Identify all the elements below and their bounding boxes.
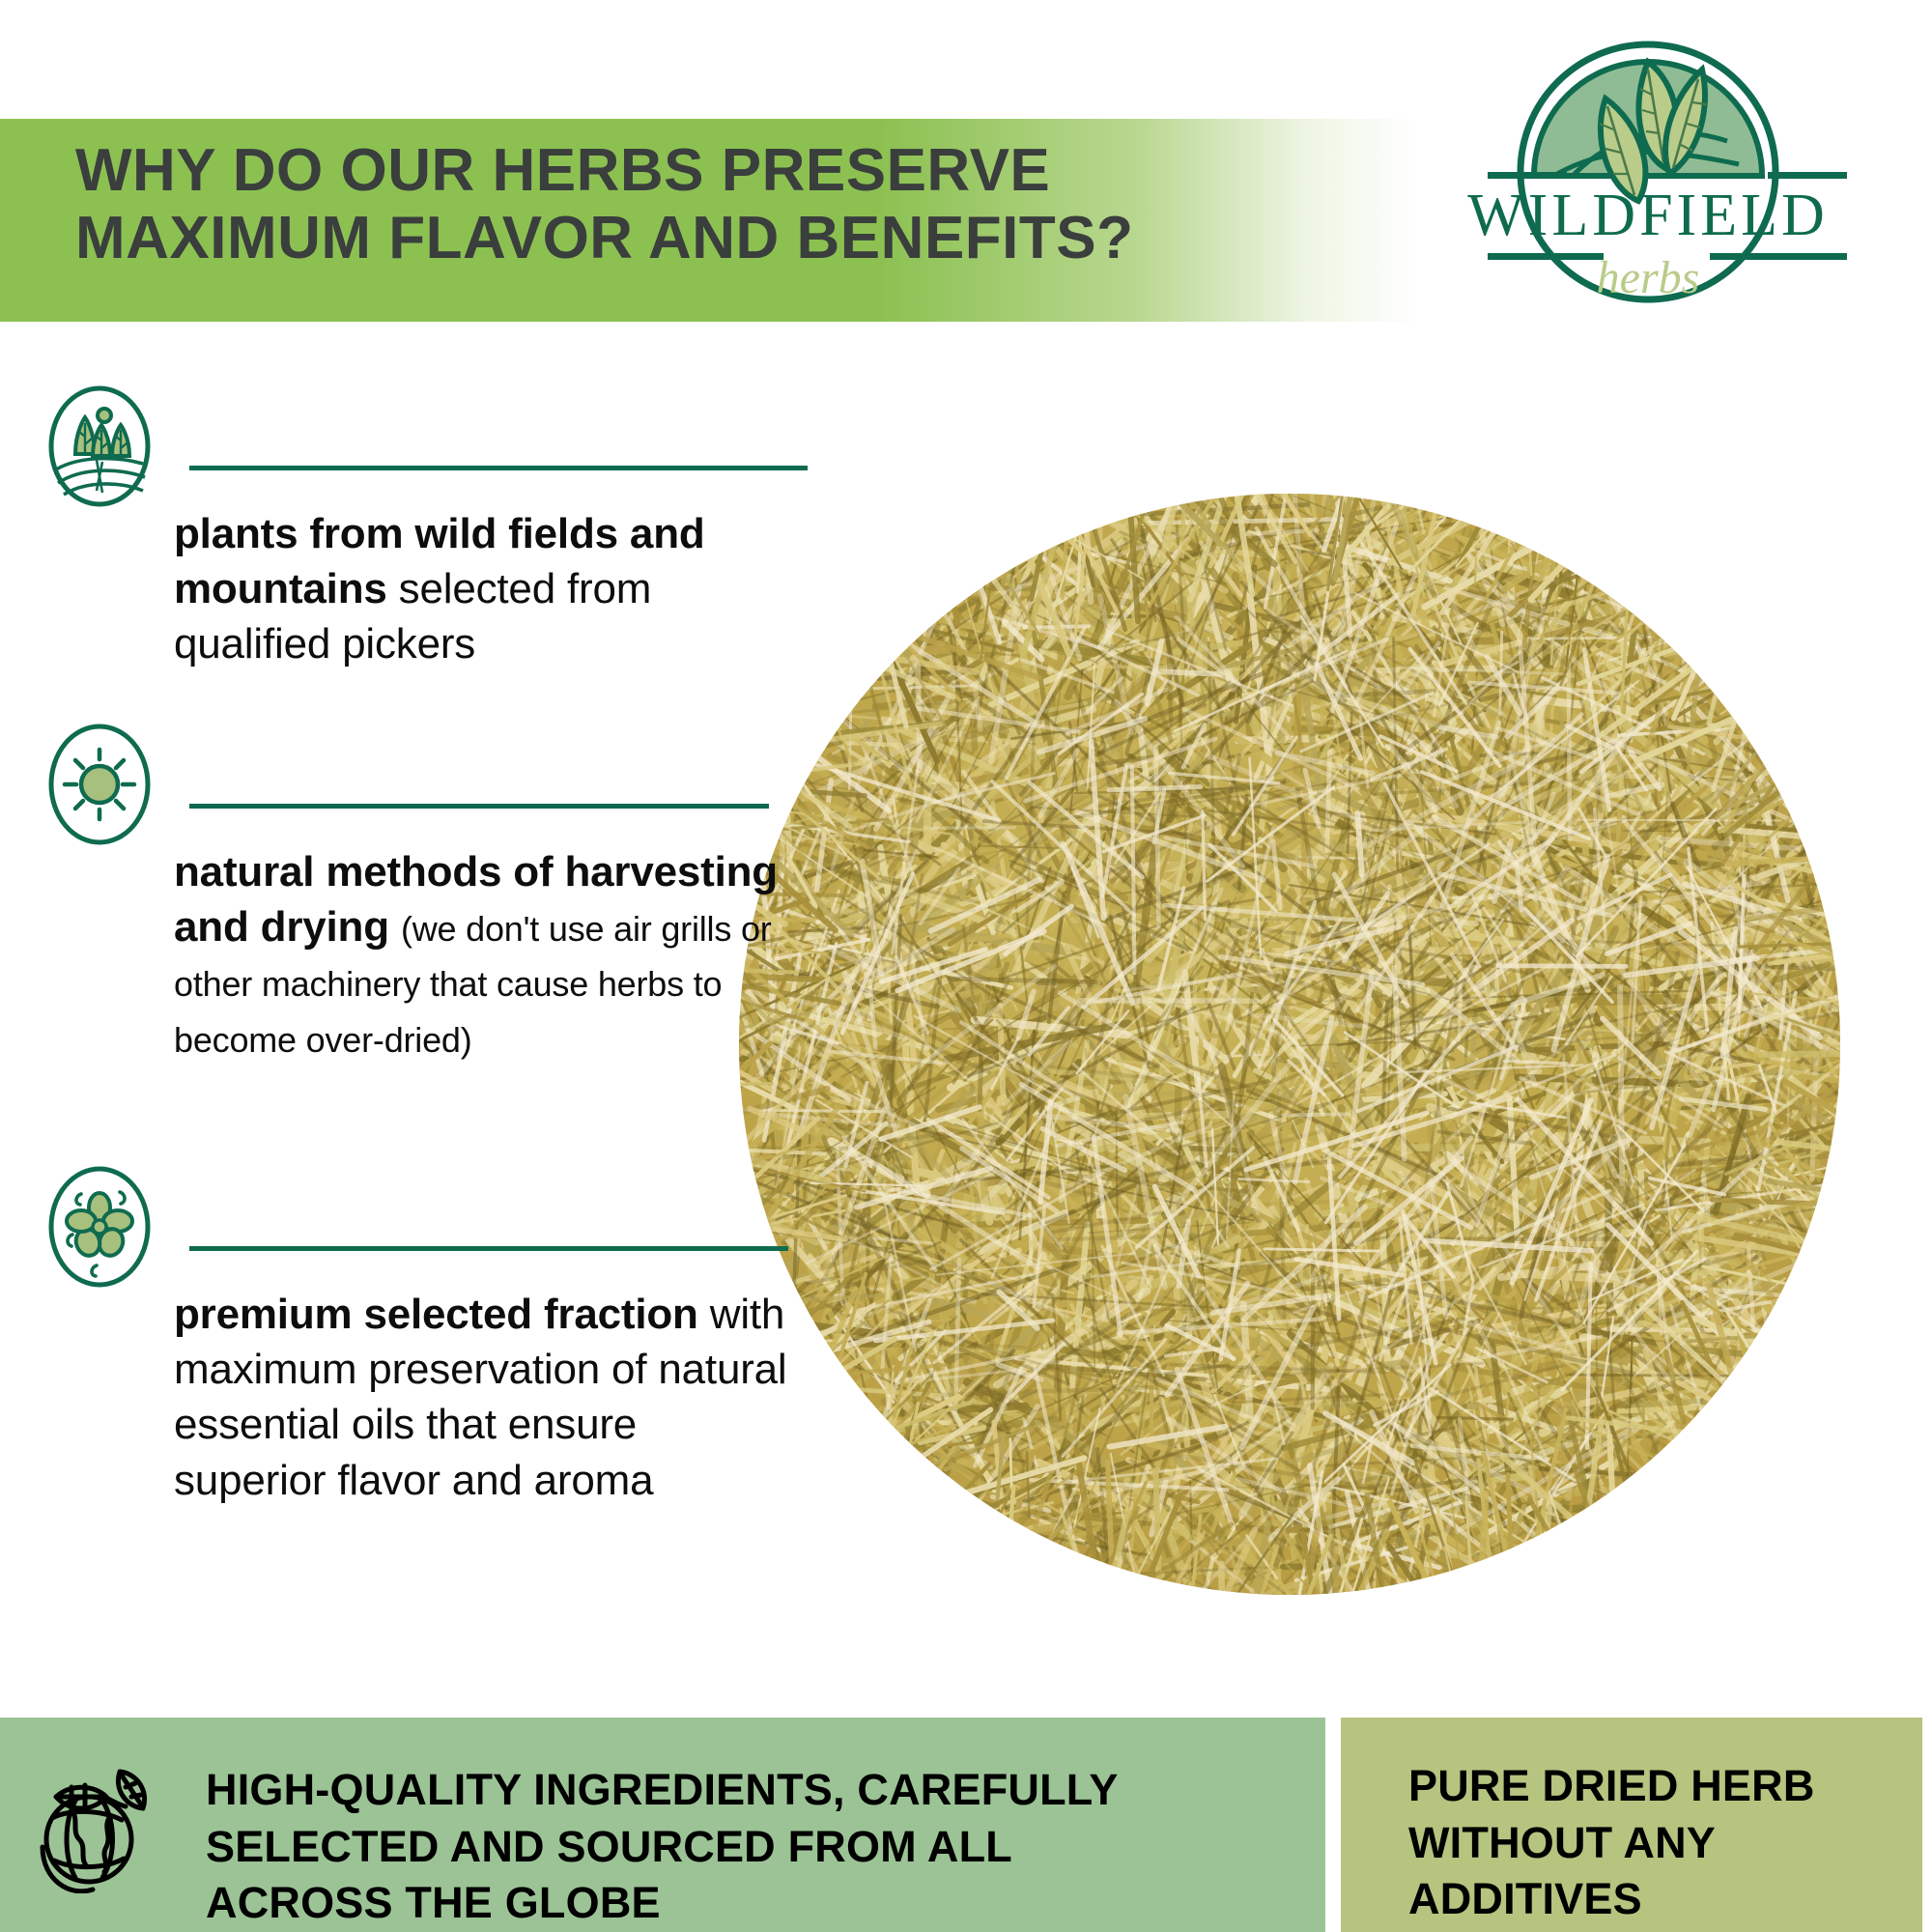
feature-divider-rule [189, 1246, 788, 1251]
footer-line-3: ACROSS THE GLOBE [206, 1875, 1268, 1932]
feature-text-premium-fraction: premium selected fraction with maximum p… [174, 1287, 800, 1508]
footer-line-1: HIGH-QUALITY INGREDIENTS, CAREFULLY [206, 1762, 1268, 1819]
footer-text-pure: PURE DRIED HERB WITHOUT ANY ADDITIVES [1408, 1758, 1911, 1928]
feature-divider-rule [189, 804, 769, 809]
page-title-line-2: MAXIMUM FLAVOR AND BENEFITS? [75, 205, 1350, 272]
globe-leaves-icon [29, 1758, 153, 1893]
footer-bar-quality: HIGH-QUALITY INGREDIENTS, CAREFULLY SELE… [0, 1718, 1325, 1932]
field-landscape-icon [46, 384, 153, 508]
footer-line-1: PURE DRIED HERB [1408, 1758, 1911, 1815]
footer-line-2: SELECTED AND SOURCED FROM ALL [206, 1819, 1268, 1876]
page-title: WHY DO OUR HERBS PRESERVE MAXIMUM FLAVOR… [75, 137, 1350, 272]
logo-brand-name: WILDFIELD [1467, 183, 1828, 248]
flower-droplets-icon [46, 1165, 153, 1289]
page-title-line-1: WHY DO OUR HERBS PRESERVE [75, 137, 1350, 205]
sun-icon [46, 723, 153, 846]
brand-logo: WILDFIELD herbs [1449, 27, 1847, 305]
footer-bar-pure: PURE DRIED HERB WITHOUT ANY ADDITIVES [1341, 1718, 1922, 1932]
footer-line-3: ADDITIVES [1408, 1871, 1911, 1928]
footer-text-quality: HIGH-QUALITY INGREDIENTS, CAREFULLY SELE… [206, 1762, 1268, 1932]
herb-product-photo [715, 469, 1864, 1619]
logo-brand-sub: herbs [1597, 252, 1700, 303]
footer-line-2: WITHOUT ANY [1408, 1815, 1911, 1872]
feature-text-natural-methods: natural methods of harvesting and drying… [174, 844, 781, 1065]
feature-divider-rule [189, 466, 808, 470]
feature-text-wild-fields: plants from wild fields and mountains se… [174, 506, 819, 672]
feature-bold-text: premium selected fraction [174, 1291, 698, 1338]
